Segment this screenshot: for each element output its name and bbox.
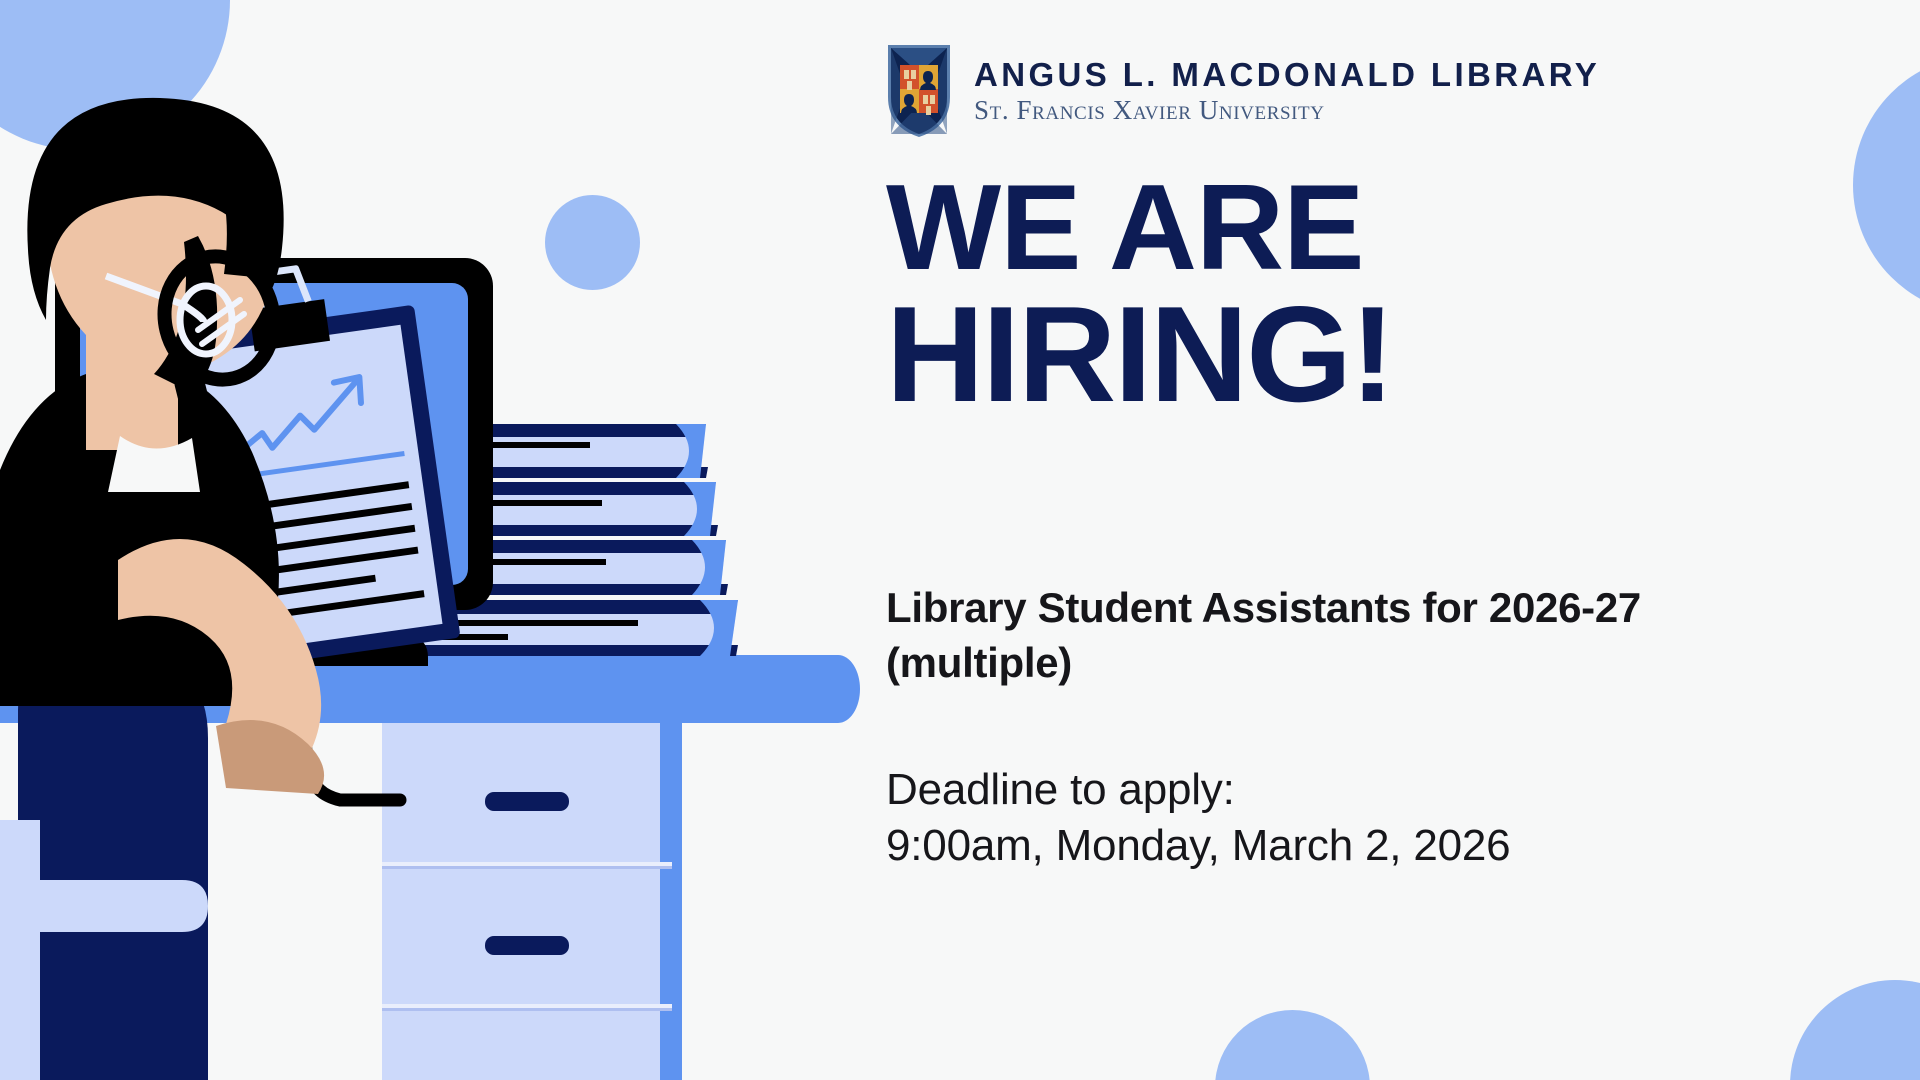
university-name: St. Francis Xavier University [974,96,1600,124]
headline-line-2: HIRING! [886,288,1393,421]
job-position-title: Library Student Assistants for 2026-27 (… [886,580,1806,691]
library-name: ANGUS L. MACDONALD LIBRARY [974,58,1600,93]
logo-text-block: ANGUS L. MACDONALD LIBRARY St. Francis X… [974,58,1600,124]
library-logo-lockup: ANGUS L. MACDONALD LIBRARY St. Francis X… [886,43,1600,139]
person-researching-at-desk-illustration [0,0,860,1080]
person-with-glasses [0,98,324,1080]
drawer-handle-upper [485,792,569,811]
application-deadline: Deadline to apply: 9:00am, Monday, March… [886,762,1806,875]
hiring-poster: ANGUS L. MACDONALD LIBRARY St. Francis X… [0,0,1920,1080]
page-title: WE ARE HIRING! [886,168,1393,421]
deadline-label: Deadline to apply: [886,762,1806,818]
office-chair [18,658,208,1080]
stfx-crest-icon [886,43,952,139]
drawer-handle-lower [485,936,569,955]
deadline-datetime: 9:00am, Monday, March 2, 2026 [886,818,1806,874]
headline-line-1: WE ARE [886,168,1393,288]
poster-content-column: ANGUS L. MACDONALD LIBRARY St. Francis X… [886,0,1886,1080]
